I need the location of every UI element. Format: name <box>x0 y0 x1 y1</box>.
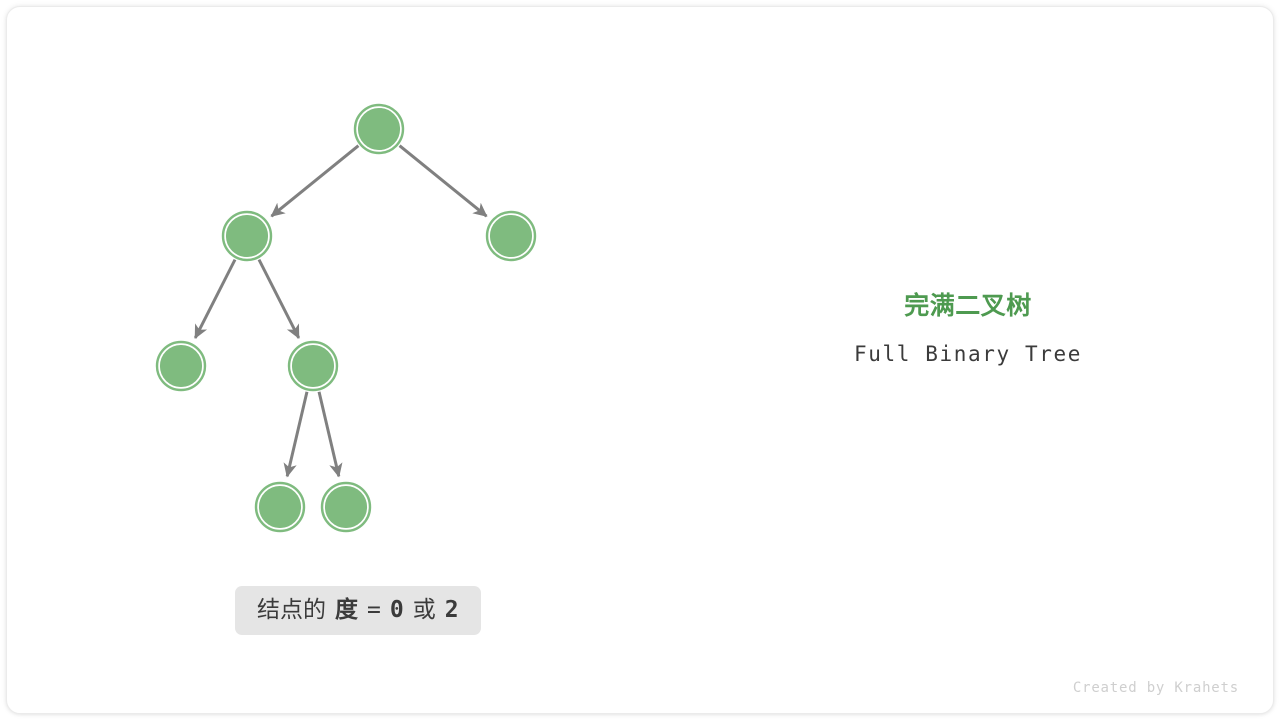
tree-nodes <box>157 105 536 532</box>
watermark: Created by Krahets <box>1073 680 1239 696</box>
caption-segment: 0 <box>390 599 404 622</box>
tree-node-core <box>325 486 367 528</box>
caption-segment: 或 <box>413 599 436 622</box>
tree-node-core <box>490 215 532 257</box>
tree-node[interactable] <box>157 342 206 391</box>
tree-edge <box>259 260 299 338</box>
caption-segment: 2 <box>445 599 459 622</box>
tree-node-core <box>259 486 301 528</box>
tree-edge <box>400 146 487 216</box>
tree-edges <box>195 146 486 477</box>
page-title: 完满二叉树 <box>768 290 1168 321</box>
caption-badge: 结点的度=0或2 <box>235 586 481 635</box>
tree-node[interactable] <box>355 105 404 154</box>
tree-node-core <box>292 345 334 387</box>
tree-node[interactable] <box>289 342 338 391</box>
tree-node[interactable] <box>487 212 536 261</box>
tree-edge <box>287 392 307 477</box>
tree-node-core <box>226 215 268 257</box>
caption-segment: = <box>367 599 381 622</box>
tree-node[interactable] <box>322 483 371 532</box>
caption-text: 结点的度=0或2 <box>257 599 459 622</box>
tree-node[interactable] <box>223 212 272 261</box>
caption-segment: 结点的 <box>257 599 326 622</box>
tree-edge <box>319 392 339 477</box>
tree-node[interactable] <box>256 483 305 532</box>
caption-segment: 度 <box>335 599 358 622</box>
page-root: 完满二叉树 Full Binary Tree 结点的度=0或2 Created … <box>0 0 1280 720</box>
tree-label-block: 完满二叉树 Full Binary Tree <box>768 290 1168 367</box>
tree-node-core <box>160 345 202 387</box>
page-subtitle: Full Binary Tree <box>768 342 1168 367</box>
tree-node-core <box>358 108 400 150</box>
tree-edge <box>195 260 235 338</box>
tree-edge <box>271 146 358 216</box>
